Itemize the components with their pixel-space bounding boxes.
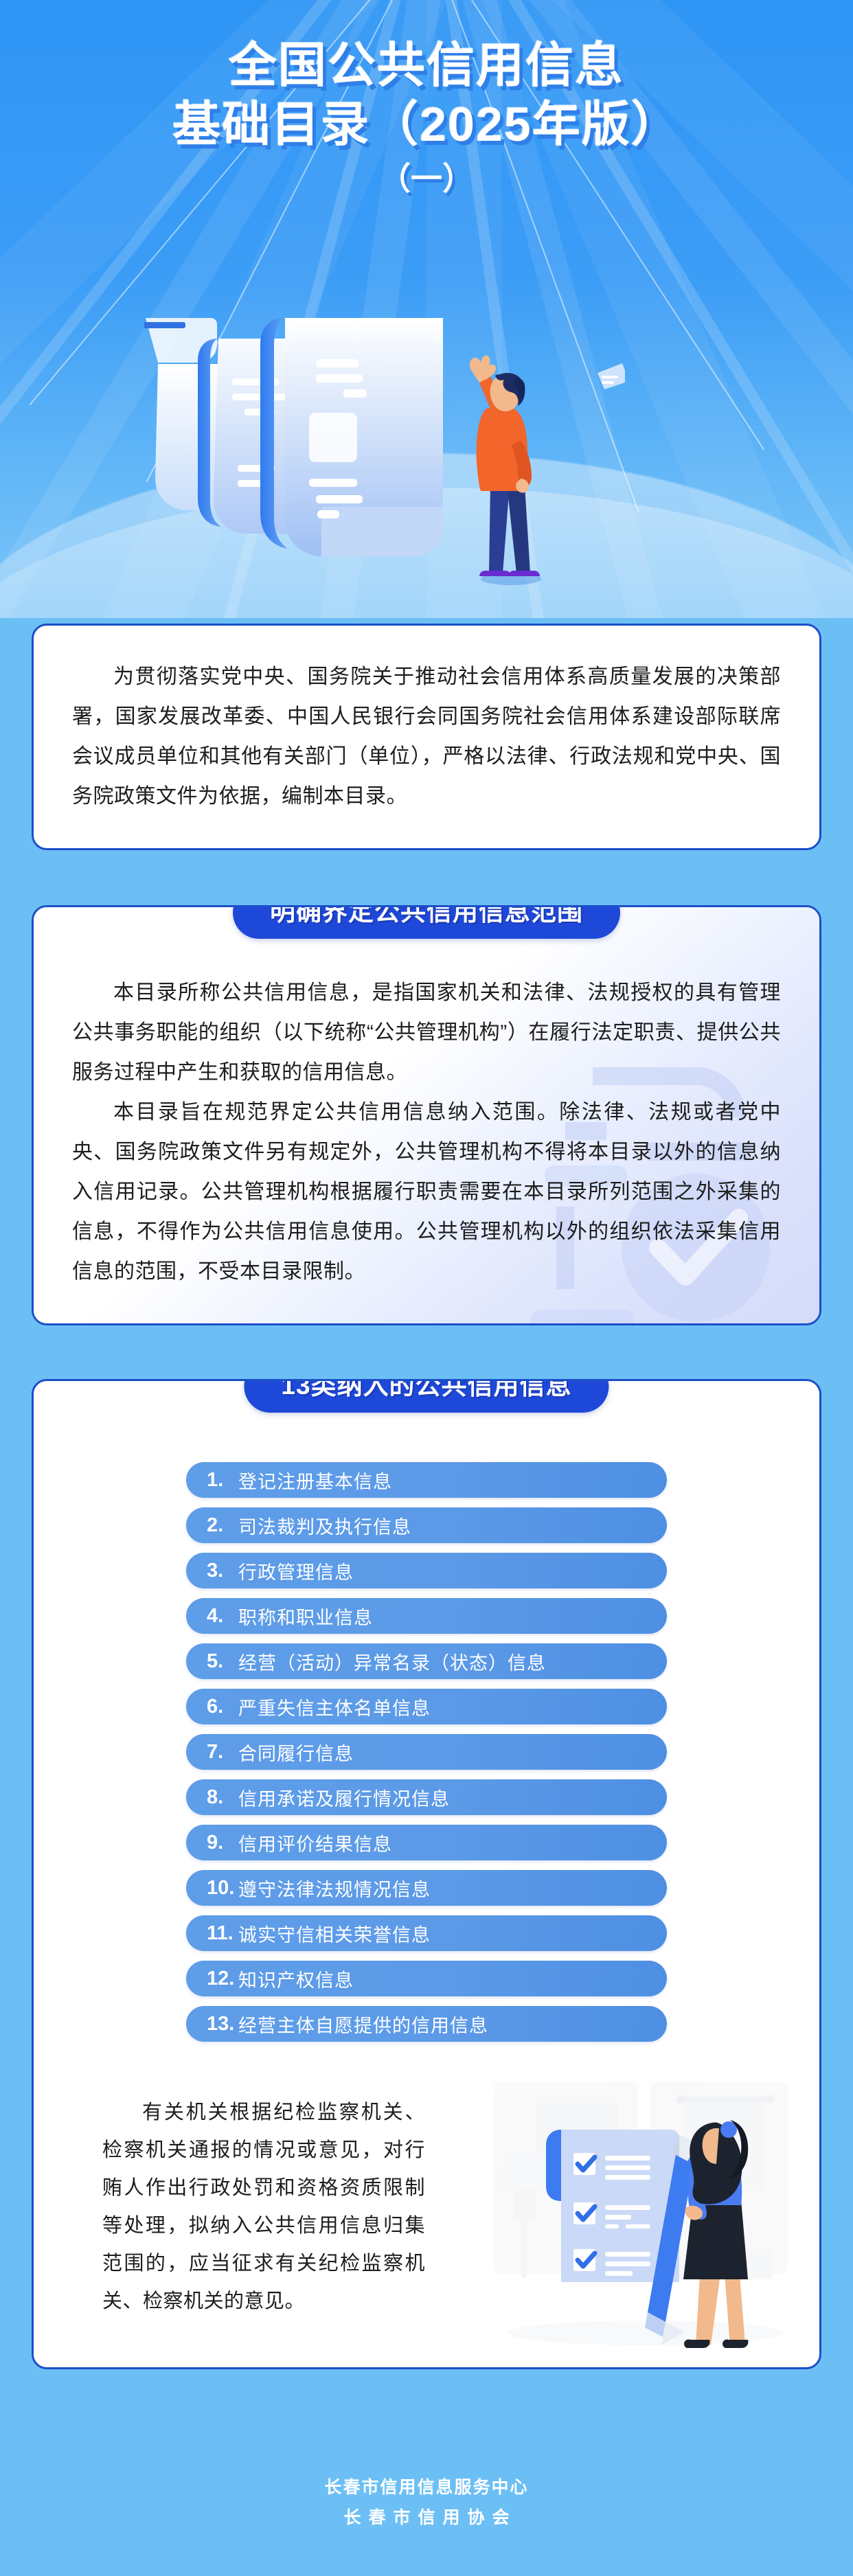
closing-paragraph: 有关机关根据纪检监察机关、检察机关通报的情况或意见，对行贿人作出行政处罚和资格资… (102, 2094, 425, 2321)
list-item-number: 2. (186, 1514, 238, 1537)
list-item-number: 9. (186, 1832, 238, 1854)
list-item-label: 合同履行信息 (238, 1739, 354, 1766)
list-item[interactable]: 4. 职称和职业信息 (186, 1598, 667, 1634)
footer-organization-2: 长春市信用协会 (0, 2503, 853, 2533)
list-item-number: 7. (186, 1741, 238, 1764)
person-pointing (470, 355, 541, 585)
title-line-1: 全国公共信用信息 (0, 36, 853, 95)
woman-figure (683, 2120, 749, 2348)
list-item[interactable]: 5. 经营（活动）异常名录（状态）信息 (186, 1643, 667, 1679)
list-item-label: 诚实守信相关荣誉信息 (238, 1920, 431, 1947)
list-item-number: 12. (186, 1968, 238, 1990)
scope-card: 明确界定公共信用信息范围 本目录所称公共信用信息，是指国家机关和法律、法规授权的… (32, 905, 821, 1325)
list-item[interactable]: 13. 经营主体自愿提供的信用信息 (186, 2006, 667, 2042)
list-item-label: 经营（活动）异常名录（状态）信息 (238, 1648, 546, 1675)
list-item[interactable]: 6. 严重失信主体名单信息 (186, 1689, 667, 1724)
infographic-poster: 全国公共信用信息 基础目录（2025年版） （一） (0, 0, 853, 2576)
list-item-number: 5. (186, 1650, 238, 1673)
list-item[interactable]: 2. 司法裁判及执行信息 (186, 1507, 667, 1543)
footer-organization-1: 长春市信用信息服务中心 (0, 2472, 853, 2503)
list-item-number: 4. (186, 1605, 238, 1628)
scope-heading-pill: 明确界定公共信用信息范围 (233, 905, 620, 939)
scope-paragraph-2: 本目录旨在规范界定公共信用信息纳入范围。除法律、法规或者党中央、国务院政策文件另… (72, 1093, 781, 1292)
list-item[interactable]: 10. 遵守法律法规情况信息 (186, 1870, 667, 1906)
list-item[interactable]: 1. 登记注册基本信息 (186, 1462, 667, 1498)
list-item-number: 13. (186, 2013, 238, 2036)
closing-block: 有关机关根据纪检监察机关、检察机关通报的情况或意见，对行贿人作出行政处罚和资格资… (34, 2079, 821, 2367)
scope-paragraph-1: 本目录所称公共信用信息，是指国家机关和法律、法规授权的具有管理公共事务职能的组织… (72, 973, 781, 1093)
list-item-label: 遵守法律法规情况信息 (238, 1875, 431, 1902)
list-item-number: 3. (186, 1560, 238, 1582)
list-item-label: 严重失信主体名单信息 (238, 1694, 431, 1720)
list-item-label: 信用评价结果信息 (238, 1830, 392, 1856)
list-item[interactable]: 12. 知识产权信息 (186, 1961, 667, 1996)
categories-list: 1. 登记注册基本信息 2. 司法裁判及执行信息 3. 行政管理信息 4. 职称… (34, 1381, 819, 2079)
list-item-number: 8. (186, 1786, 238, 1809)
list-item-label: 职称和职业信息 (238, 1603, 373, 1630)
list-item-label: 信用承诺及履行情况信息 (238, 1784, 450, 1811)
list-item[interactable]: 3. 行政管理信息 (186, 1553, 667, 1588)
floating-paper-fragment-right (598, 363, 625, 389)
list-item[interactable]: 8. 信用承诺及履行情况信息 (186, 1779, 667, 1815)
footer: 长春市信用信息服务中心 长春市信用协会 (0, 2472, 853, 2533)
list-item[interactable]: 11. 诚实守信相关荣誉信息 (186, 1915, 667, 1951)
list-item-number: 1. (186, 1469, 238, 1492)
categories-card: 13类纳入的公共信用信息 1. 登记注册基本信息 2. 司法裁判及执行信息 3.… (32, 1379, 821, 2369)
list-item-label: 司法裁判及执行信息 (238, 1512, 411, 1539)
list-item[interactable]: 7. 合同履行信息 (186, 1734, 667, 1770)
list-item-number: 6. (186, 1696, 238, 1718)
intro-paragraph: 为贯彻落实党中央、国务院关于推动社会信用体系高质量发展的决策部署，国家发展改革委… (72, 657, 781, 817)
list-item[interactable]: 9. 信用评价结果信息 (186, 1825, 667, 1860)
intro-card: 为贯彻落实党中央、国务院关于推动社会信用体系高质量发展的决策部署，国家发展改革委… (32, 624, 821, 850)
list-item-number: 11. (186, 1922, 238, 1945)
scope-heading-label: 明确界定公共信用信息范围 (270, 905, 583, 928)
hero-banner: 全国公共信用信息 基础目录（2025年版） （一） (0, 0, 853, 618)
list-item-label: 经营主体自愿提供的信用信息 (238, 2011, 488, 2038)
categories-heading-label: 13类纳入的公共信用信息 (281, 1379, 571, 1402)
list-item-label: 知识产权信息 (238, 1965, 354, 1992)
list-item-number: 10. (186, 1877, 238, 1900)
list-item-label: 登记注册基本信息 (238, 1467, 392, 1494)
document-scroll-person-illustration (144, 312, 625, 608)
checklist-woman-pencil-illustration (473, 2079, 821, 2367)
page-title: 全国公共信用信息 基础目录（2025年版） （一） (0, 36, 853, 203)
title-line-2: 基础目录（2025年版） (0, 95, 853, 154)
list-item-label: 行政管理信息 (238, 1558, 354, 1584)
categories-heading-pill: 13类纳入的公共信用信息 (244, 1379, 609, 1413)
title-line-3: （一） (0, 154, 853, 203)
